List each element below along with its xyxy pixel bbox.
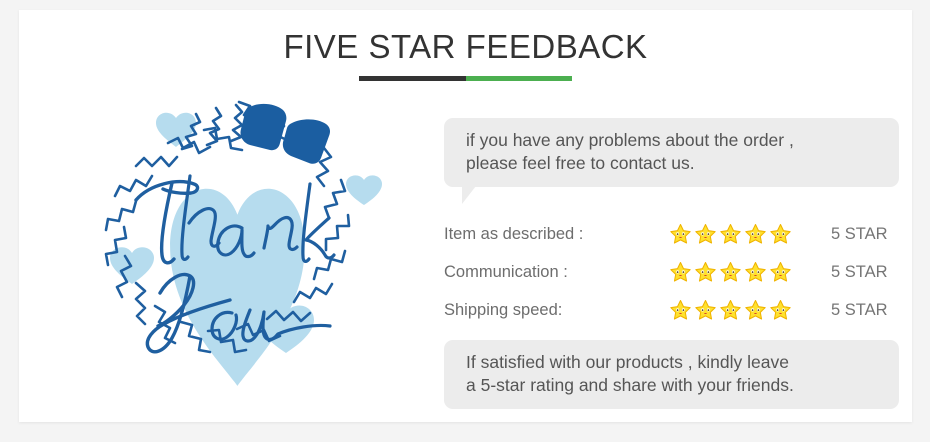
star-icon — [719, 261, 742, 284]
star-icon — [769, 261, 792, 284]
underline-segment-green — [466, 76, 573, 81]
star-icon — [744, 223, 767, 246]
rating-value-item-as-described: 5 STAR — [809, 225, 888, 244]
star-icon — [744, 299, 767, 322]
satisfaction-note-line-2: a 5-star rating and share with your frie… — [466, 374, 883, 397]
contact-bubble: if you have any problems about the order… — [444, 118, 899, 187]
page-root: FIVE STAR FEEDBACK — [0, 0, 930, 442]
bow-icon — [240, 104, 330, 164]
star-icon — [669, 299, 692, 322]
feedback-card: FIVE STAR FEEDBACK — [19, 10, 912, 422]
contact-bubble-wrap: if you have any problems about the order… — [444, 118, 904, 187]
star-rating-item-as-described — [669, 223, 809, 246]
rating-row: Item as described : 5 STAR — [444, 215, 914, 253]
rating-label-item-as-described: Item as described : — [444, 225, 669, 244]
page-title: FIVE STAR FEEDBACK — [19, 28, 912, 66]
ratings-list: Item as described : 5 STAR Communication… — [444, 215, 914, 329]
star-rating-communication — [669, 261, 809, 284]
satisfaction-note-line-1: If satisfied with our products , kindly … — [466, 351, 883, 374]
contact-bubble-line-1: if you have any problems about the order… — [466, 129, 883, 152]
contact-bubble-line-2: please feel free to contact us. — [466, 152, 883, 175]
star-icon — [719, 299, 742, 322]
bubble-tail — [462, 186, 476, 204]
star-icon — [744, 261, 767, 284]
rating-row: Communication : 5 STAR — [444, 253, 914, 291]
underline-segment-dark — [359, 76, 466, 81]
rating-label-shipping-speed: Shipping speed: — [444, 301, 669, 320]
star-icon — [769, 299, 792, 322]
star-icon — [669, 223, 692, 246]
rating-value-communication: 5 STAR — [809, 263, 888, 282]
star-rating-shipping-speed — [669, 299, 809, 322]
star-icon — [719, 223, 742, 246]
star-icon — [669, 261, 692, 284]
title-underline — [359, 76, 572, 81]
thank-you-illustration — [64, 88, 404, 418]
star-icon — [694, 223, 717, 246]
star-icon — [769, 223, 792, 246]
rating-value-shipping-speed: 5 STAR — [809, 301, 888, 320]
rating-label-communication: Communication : — [444, 263, 669, 282]
rating-row: Shipping speed: 5 STAR — [444, 291, 914, 329]
satisfaction-note: If satisfied with our products , kindly … — [444, 340, 899, 409]
star-icon — [694, 299, 717, 322]
star-icon — [694, 261, 717, 284]
